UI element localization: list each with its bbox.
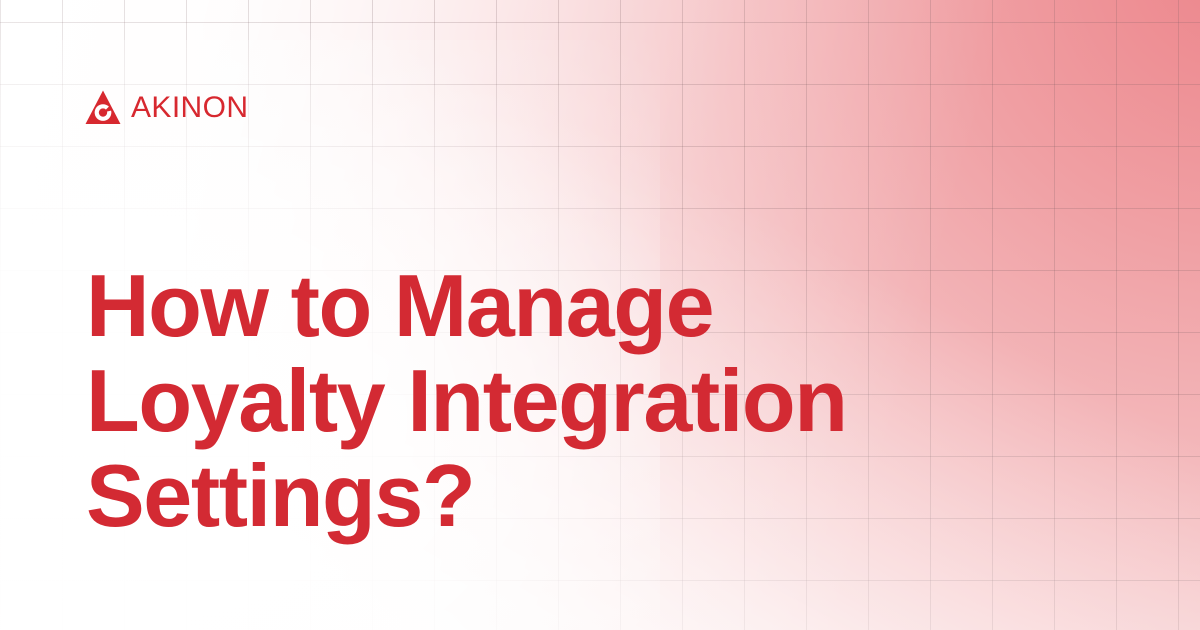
akinon-wordmark: AKINON: [131, 93, 248, 123]
page-title-line-2: Loyalty Integration: [86, 353, 847, 448]
akinon-triangle-logo-icon: [84, 89, 122, 127]
page-title-line-1: How to Manage: [86, 258, 847, 353]
page-title: How to Manage Loyalty Integration Settin…: [86, 258, 847, 543]
page-title-line-3: Settings?: [86, 448, 847, 543]
banner-canvas: AKINON How to Manage Loyalty Integration…: [0, 0, 1200, 630]
akinon-logo[interactable]: AKINON: [84, 89, 248, 127]
